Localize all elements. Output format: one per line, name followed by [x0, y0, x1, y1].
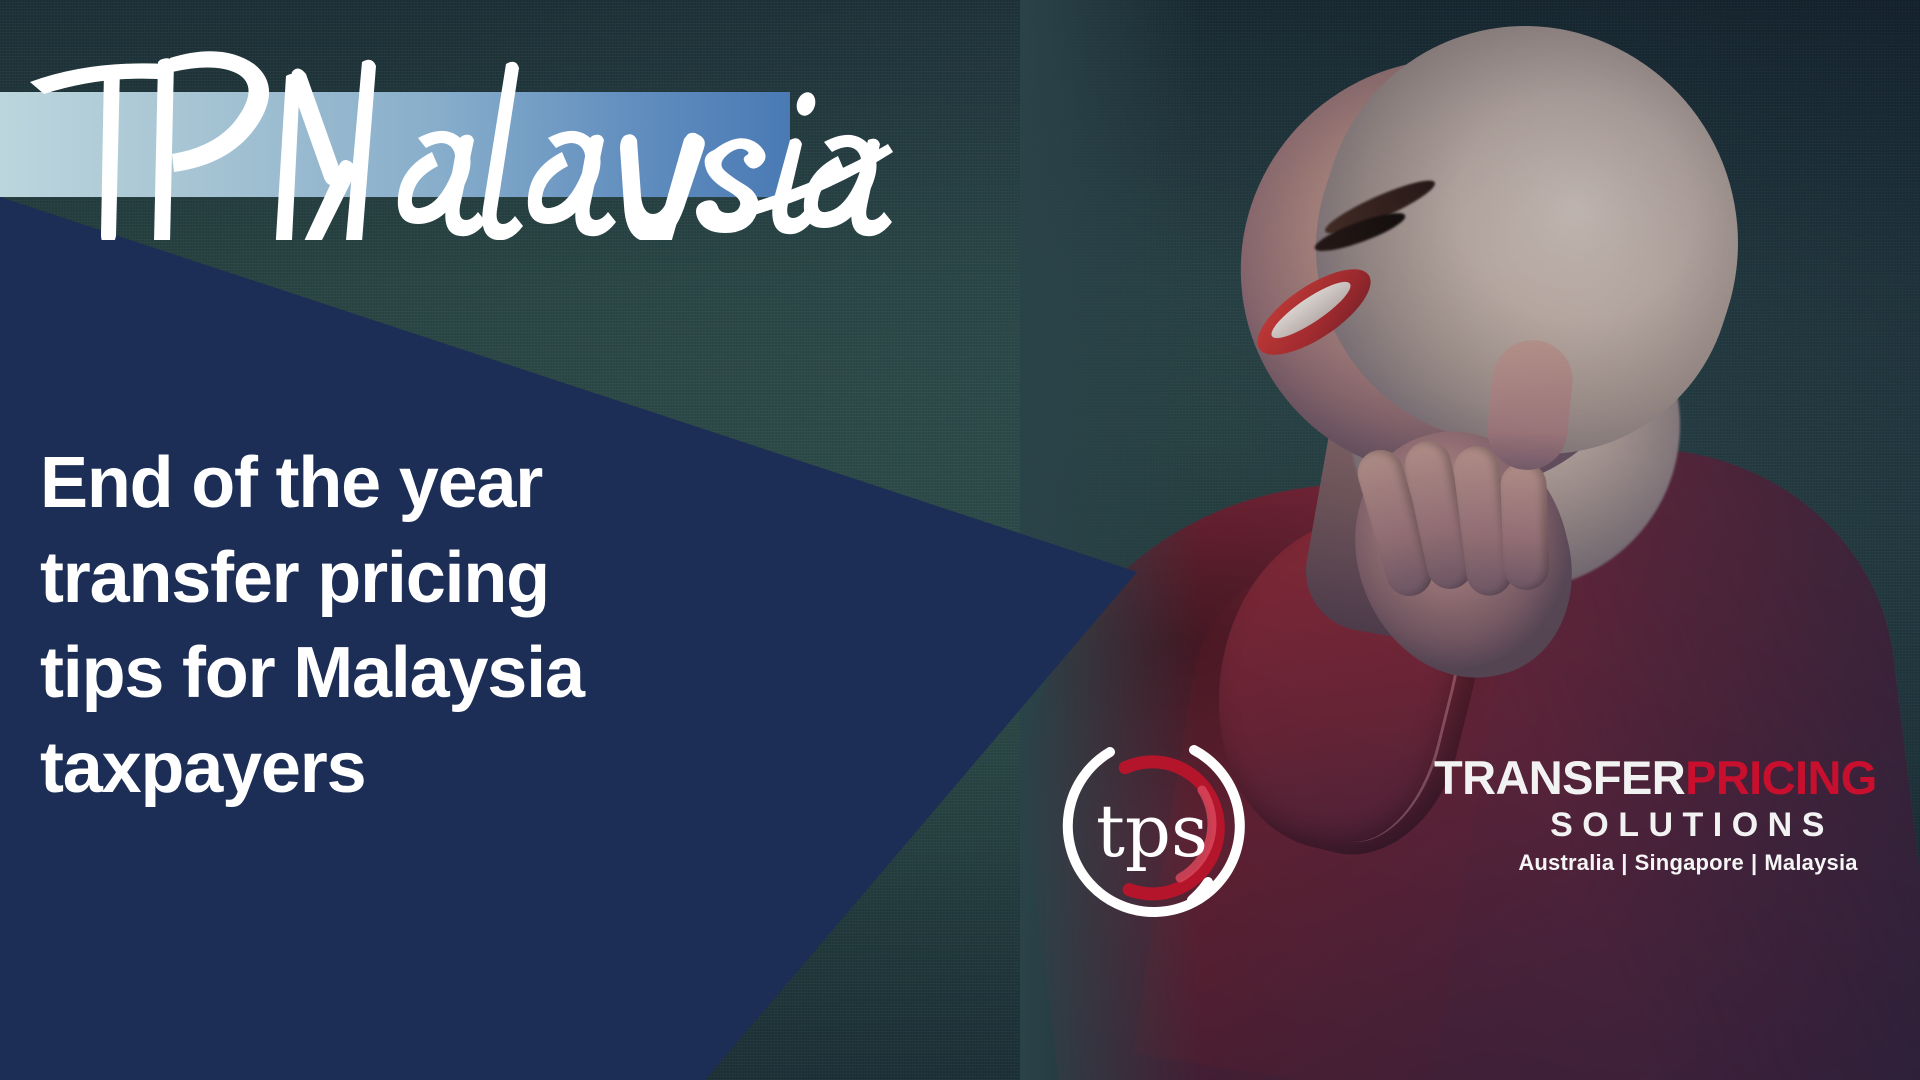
logo-location-australia: Australia: [1518, 850, 1614, 875]
logo-transfer-text: TRANSFER: [1434, 751, 1685, 804]
logo-locations: Australia|Singapore|Malaysia: [1434, 846, 1920, 878]
logo-location-singapore: Singapore: [1635, 850, 1744, 875]
logo-name-line: TRANSFERPRICING: [1434, 752, 1920, 804]
promotional-banner-canvas: End of the year transfer pricing tips fo…: [0, 0, 1920, 1080]
title-banner-bar: [0, 92, 790, 197]
tps-logo-mark: tps: [1052, 728, 1252, 928]
page-title: End of the year transfer pricing tips fo…: [40, 436, 700, 816]
headline-line-2: transfer pricing: [40, 531, 700, 626]
headline-line-3: tips for Malaysia: [40, 626, 700, 721]
logo-pricing-text: PRICING: [1685, 751, 1877, 804]
headline-line-1: End of the year: [40, 436, 700, 531]
headline-line-4: taxpayers: [40, 721, 700, 816]
logo-location-separator: |: [1744, 850, 1764, 875]
tps-monogram: tps: [1096, 789, 1208, 873]
tps-logo-wordmark: TRANSFERPRICING SOLUTIONS Australia|Sing…: [1434, 752, 1920, 878]
logo-location-separator: |: [1614, 850, 1634, 875]
tps-logo-rings: tps: [1052, 728, 1252, 928]
logo-location-malaysia: Malaysia: [1764, 850, 1857, 875]
logo-solutions-text: SOLUTIONS: [1434, 804, 1920, 846]
